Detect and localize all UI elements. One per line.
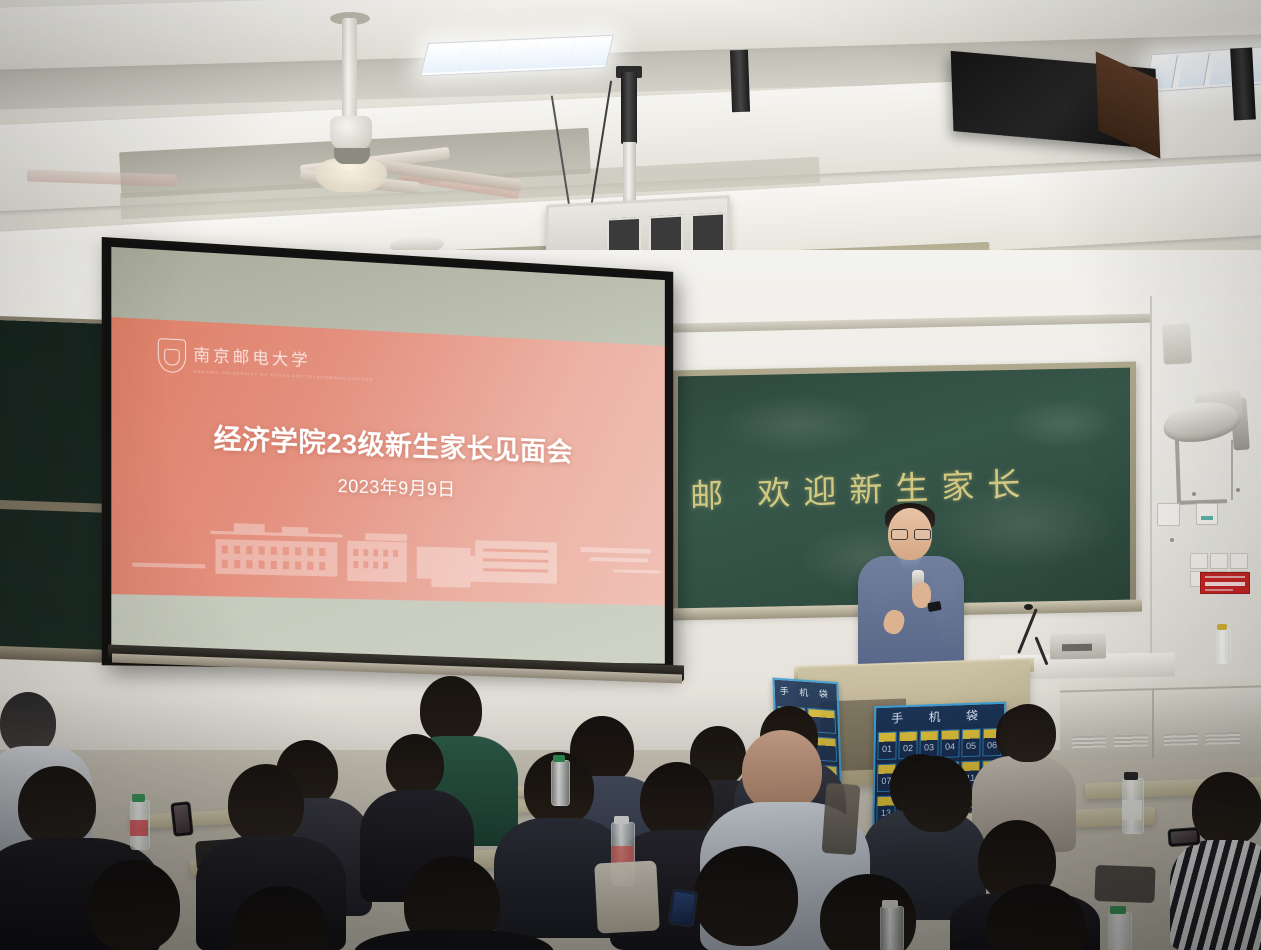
- shield-icon: [158, 338, 186, 373]
- presentation-slide: 南京邮电大学 NANJING UNIVERSITY OF POSTS AND T…: [111, 317, 665, 605]
- bottle-cap: [1110, 906, 1126, 914]
- slide-title: 经济学院23级新生家长见面会: [111, 412, 665, 473]
- bottle-cap: [553, 755, 565, 762]
- slide-skyline-graphic: [111, 505, 665, 605]
- bottle-cap: [132, 794, 145, 802]
- wall-speaker-icon: [1162, 323, 1192, 364]
- pocket-chart-slot: 05: [961, 729, 980, 758]
- smartphone[interactable]: [1167, 827, 1200, 847]
- microphone-icon: [1024, 604, 1033, 610]
- water-bottle: [551, 760, 570, 806]
- ceiling-post: [730, 50, 750, 113]
- screen-surface: 南京邮电大学 NANJING UNIVERSITY OF POSTS AND T…: [111, 247, 665, 664]
- light-switch[interactable]: [1230, 553, 1248, 569]
- blackboard-left: [0, 316, 112, 662]
- lecture-hall-photo: 邮 欢迎新生家长: [0, 0, 1261, 950]
- console-slot: [1062, 644, 1092, 652]
- power-socket-icon[interactable]: [1157, 503, 1180, 526]
- light-switch[interactable]: [1190, 553, 1208, 569]
- bottle-cap: [1217, 624, 1227, 630]
- bottle-cap: [614, 816, 629, 824]
- bottle-cap: [1124, 772, 1138, 780]
- fan-pull-cord[interactable]: [1231, 440, 1233, 500]
- university-logo: 南京邮电大学 NANJING UNIVERSITY OF POSTS AND T…: [158, 338, 374, 382]
- pocket-chart-slot: 04: [940, 729, 959, 758]
- projection-screen: 南京邮电大学 NANJING UNIVERSITY OF POSTS AND T…: [102, 237, 673, 673]
- right-cabinet-row: [1060, 669, 1261, 760]
- light-switch[interactable]: [1210, 553, 1228, 569]
- chair: [1094, 865, 1155, 903]
- water-bottle: [1216, 628, 1231, 664]
- pocket-chart-header: 手 机 袋: [774, 680, 837, 706]
- bottle-label: [1122, 800, 1142, 820]
- glasses-icon: [891, 529, 929, 538]
- handbag: [594, 860, 660, 933]
- water-bottle: [1108, 912, 1132, 950]
- water-bottle: [880, 906, 904, 950]
- ceiling-post: [1230, 47, 1256, 120]
- smartphone[interactable]: [668, 888, 699, 927]
- slide-date: 2023年9月9日: [111, 464, 665, 509]
- bottle-cap: [882, 900, 898, 908]
- smartphone[interactable]: [170, 801, 193, 837]
- pocket-chart-header: 手 机 袋: [876, 704, 1004, 730]
- power-socket-icon[interactable]: [1196, 503, 1218, 525]
- bottle-label: [130, 820, 148, 836]
- pocket-chart-slot: 01: [877, 731, 896, 760]
- safety-sign: [1200, 572, 1250, 594]
- handbag: [822, 783, 861, 855]
